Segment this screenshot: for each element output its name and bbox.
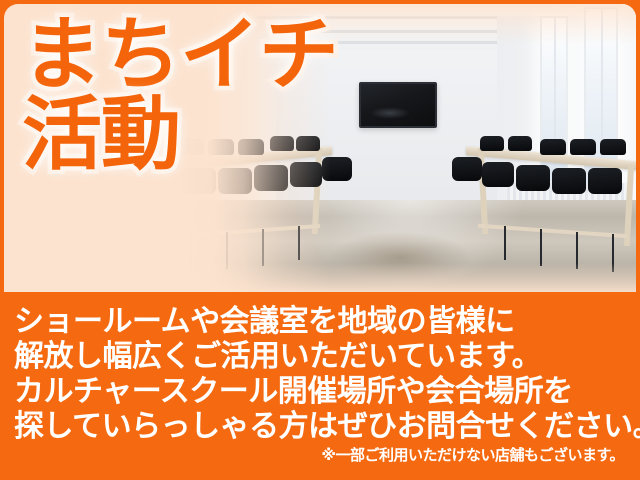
title-line-1: まちイチ bbox=[22, 18, 338, 92]
message-band: ショールームや会議室を地域の皆様に 解放し幅広くご活用いただいています。 カルチ… bbox=[0, 296, 640, 480]
message-line-3: カルチャースクール開催場所や会合場所を bbox=[14, 374, 630, 409]
promo-banner: まちイチ 活動 ショールームや会議室を地域の皆様に 解放し幅広くご活用いただいて… bbox=[0, 0, 640, 480]
message-line-2: 解放し幅広くご活用いただいています。 bbox=[14, 339, 630, 374]
banner-title: まちイチ 活動 bbox=[22, 18, 338, 171]
title-line-2: 活動 bbox=[22, 98, 338, 172]
top-panel: まちイチ 活動 bbox=[0, 0, 640, 296]
top-panel-inner: まちイチ 活動 bbox=[4, 4, 636, 292]
message-line-1: ショールームや会議室を地域の皆様に bbox=[14, 304, 630, 339]
message-line-4: 探していらっしゃる方はぜひお問合せください。 bbox=[14, 409, 630, 444]
disclaimer-note: ※一部ご利用いただけない店舗もございます。 bbox=[14, 446, 630, 464]
